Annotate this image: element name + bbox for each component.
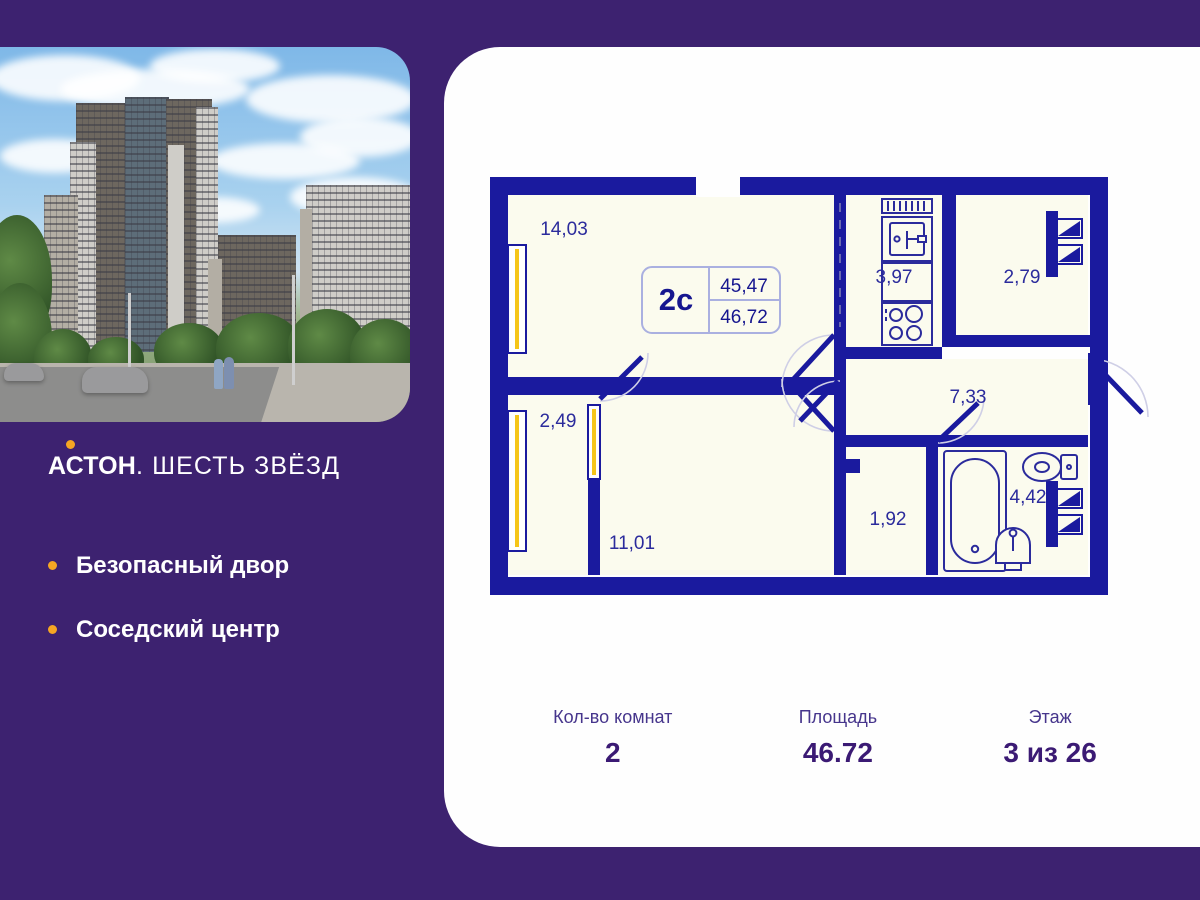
feature-list: Безопасный двор Соседский центр xyxy=(48,552,289,680)
brand-logo: АСТОН. ШЕСТЬ ЗВЁЗД xyxy=(48,452,340,481)
room-label-storage: 2,79 xyxy=(1004,267,1041,288)
stat-area: Площадь 46.72 xyxy=(799,707,877,769)
orange-bullet-icon xyxy=(48,625,57,634)
room-label-entry: 2,49 xyxy=(540,411,577,432)
stat-value: 46.72 xyxy=(799,737,877,769)
room-label-hall: 7,33 xyxy=(950,387,987,408)
apartment-stats: Кол-во комнат 2 Площадь 46.72 Этаж 3 из … xyxy=(490,707,1160,769)
project-render-photo xyxy=(0,47,410,422)
apartment-type-badge: 2с 45,47 46,72 xyxy=(642,267,780,333)
left-info-panel: АСТОН. ШЕСТЬ ЗВЁЗД Безопасный двор Сосед… xyxy=(0,0,432,900)
stat-value: 3 из 26 xyxy=(1003,737,1096,769)
floorplan-diagram[interactable]: 14,03 3,97 2,79 7,33 2,49 11,01 1,92 4,4… xyxy=(490,177,1160,637)
list-item: Соседский центр xyxy=(48,616,289,644)
feature-label: Соседский центр xyxy=(76,616,280,643)
window-glazing xyxy=(515,415,519,547)
logo-project-name: ШЕСТЬ ЗВЁЗД xyxy=(144,452,340,480)
stat-caption: Площадь xyxy=(799,707,877,728)
badge-area-total: 46,72 xyxy=(720,307,768,328)
feature-label: Безопасный двор xyxy=(76,552,289,579)
badge-area-living: 45,47 xyxy=(720,276,768,297)
logo-brand-name: АСТОН xyxy=(48,452,136,480)
stat-caption: Кол-во комнат xyxy=(553,707,672,728)
orange-bullet-icon xyxy=(48,561,57,570)
room-label-kitchen: 3,97 xyxy=(876,267,913,288)
list-item: Безопасный двор xyxy=(48,552,289,580)
room-label-closet: 1,92 xyxy=(870,509,907,530)
toilet-icon xyxy=(1023,453,1077,481)
stat-value: 2 xyxy=(553,737,672,769)
washbasin-icon xyxy=(996,528,1030,570)
stat-caption: Этаж xyxy=(1003,707,1096,728)
badge-type: 2с xyxy=(659,282,693,317)
floorplan-card: 14,03 3,97 2,79 7,33 2,49 11,01 1,92 4,4… xyxy=(444,47,1200,847)
orange-dot-icon xyxy=(66,440,75,449)
logo-brand-dot: . xyxy=(136,452,144,480)
room-label-living: 14,03 xyxy=(540,219,588,240)
window-glazing xyxy=(515,249,519,349)
stat-rooms-count: Кол-во комнат 2 xyxy=(553,707,672,769)
stat-floor: Этаж 3 из 26 xyxy=(1003,707,1096,769)
room-label-bathroom: 4,42 xyxy=(1010,487,1047,508)
room-label-bedroom: 11,01 xyxy=(609,533,655,554)
